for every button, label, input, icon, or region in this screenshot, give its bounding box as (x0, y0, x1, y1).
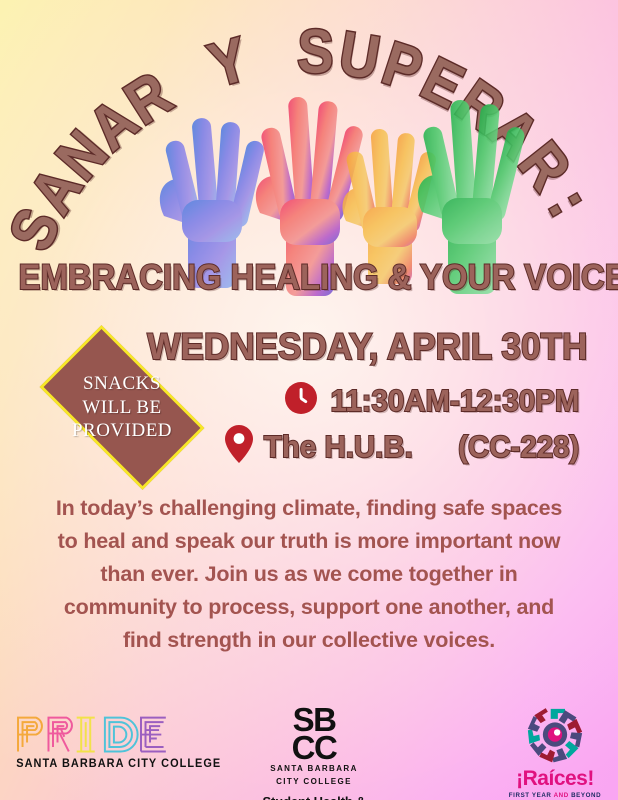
raices-tagline: FIRST YEAR AND BEYOND (505, 792, 605, 799)
raices-tagline-and: AND (554, 792, 569, 799)
sbcc-sub-line-2: CITY COLLEGE (249, 777, 379, 787)
raices-tagline-part-1: FIRST YEAR (509, 792, 552, 799)
sbcc-sub-line-1: SANTA BARBARA (249, 764, 379, 774)
location-pin-icon (224, 424, 254, 469)
raices-wordmark: ¡Raíces! (505, 767, 605, 791)
poster-body-text: In today’s challenging climate, finding … (52, 492, 566, 658)
event-location-row: The H.U.B. (CC-228) (224, 424, 582, 469)
watercolor-hands-illustration (0, 78, 618, 288)
sbcc-mark-line-2: CC (249, 734, 379, 762)
sbcc-department: Student Health & Wellness (249, 794, 379, 800)
clock-icon (284, 381, 318, 420)
poster-canvas: SANAR Y SUPERAR: (0, 0, 618, 800)
event-location-name: The H.U.B. (264, 429, 413, 465)
snacks-badge-text: SNACKS WILL BE PROVIDED (18, 345, 226, 470)
raices-tagline-part-2: BEYOND (571, 792, 601, 799)
snacks-badge: SNACKS WILL BE PROVIDED (18, 345, 226, 470)
pride-logo: SANTA BARBARA CITY COLLEGE (12, 712, 182, 770)
footer-logos: SANTA BARBARA CITY COLLEGE SB CC SANTA B… (0, 700, 618, 800)
event-time-row: 11:30AM-12:30PM (284, 381, 586, 420)
raices-logo: ¡Raíces! FIRST YEAR AND BEYOND (505, 706, 605, 799)
event-time: 11:30AM-12:30PM (331, 383, 580, 419)
snacks-line-3: PROVIDED (72, 419, 172, 443)
event-room-code: (CC-228) (458, 429, 579, 465)
raices-medallion-icon (519, 706, 591, 766)
snacks-line-2: WILL BE (82, 396, 161, 420)
sbcc-logo: SB CC SANTA BARBARA CITY COLLEGE Student… (249, 706, 379, 800)
pride-wordmark (12, 712, 182, 756)
snacks-line-1: SNACKS (83, 372, 161, 396)
poster-subtitle: EMBRACING HEALING & YOUR VOICE (19, 258, 600, 298)
pride-logo-subtitle: SANTA BARBARA CITY COLLEGE (16, 758, 178, 770)
